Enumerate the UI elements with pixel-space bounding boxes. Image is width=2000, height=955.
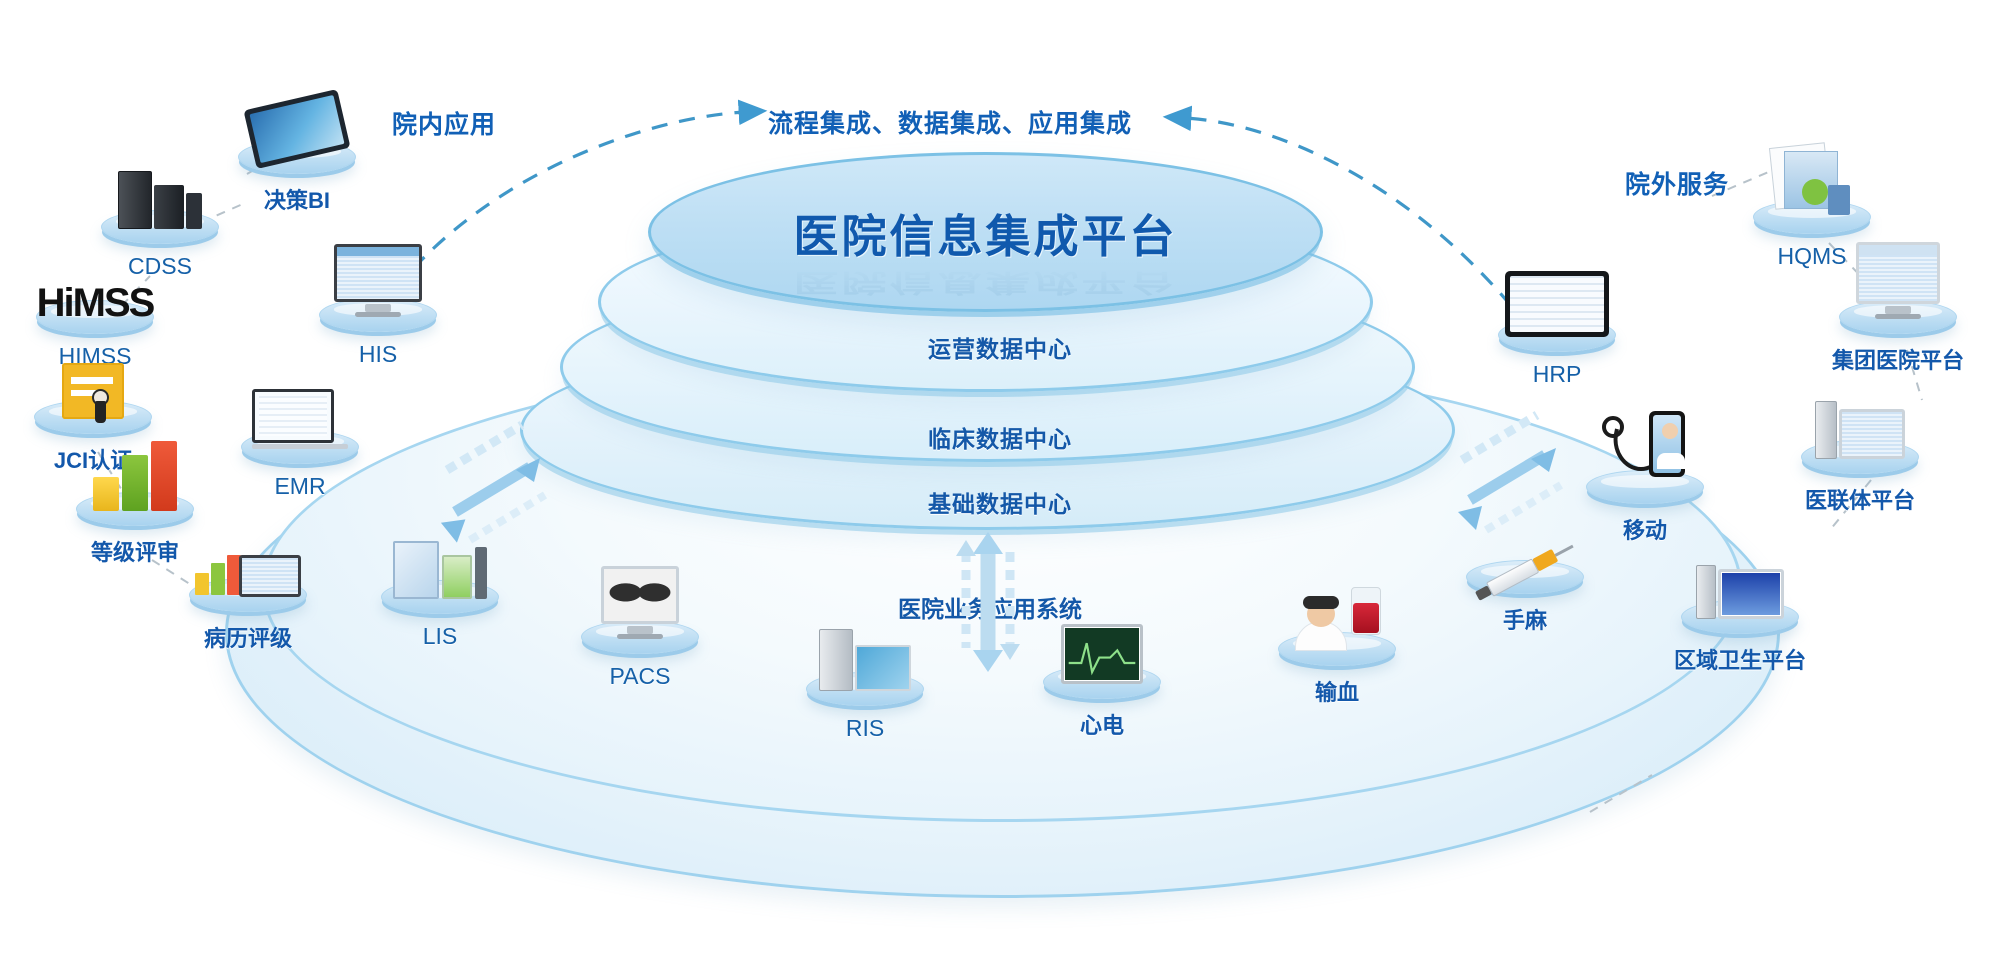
himss-logo-icon: HiMSS — [37, 283, 154, 323]
pedestal — [1466, 560, 1584, 594]
crt-monitor-icon — [1856, 242, 1940, 319]
pedestal — [1801, 440, 1919, 474]
pc-tower-monitor-icon — [1815, 401, 1905, 459]
node-label: 区域卫生平台 — [1655, 643, 1825, 675]
node-label: LIS — [355, 623, 525, 650]
node-label: 集团医院平台 — [1813, 343, 1983, 375]
pedestal — [189, 578, 307, 612]
pedestal — [238, 140, 356, 174]
pedestal — [1043, 665, 1161, 699]
node-medical-alliance-platform[interactable]: 医联体平台 — [1775, 440, 1945, 515]
node-regional-health-platform[interactable]: 区域卫生平台 — [1655, 600, 1825, 675]
blue-screen-pc-icon — [1696, 565, 1784, 619]
widescreen-monitor-icon — [1505, 271, 1609, 337]
pedestal: HiMSS — [36, 300, 154, 334]
pedestal — [101, 210, 219, 244]
node-cdss[interactable]: CDSS — [75, 210, 245, 280]
node-his[interactable]: HIS — [293, 298, 463, 368]
tablet-icon — [249, 99, 345, 159]
desktop-monitor-icon — [334, 244, 422, 317]
node-pacs[interactable]: PACS — [555, 620, 725, 690]
page-title: 医院信息集成平台 — [648, 200, 1323, 265]
pedestal — [1498, 318, 1616, 352]
lab-analyzer-icon — [393, 541, 487, 599]
node-label: 手麻 — [1440, 603, 1610, 635]
syringe-icon — [1471, 563, 1579, 579]
node-label: 心电 — [1017, 708, 1187, 740]
server-rack-icon — [118, 171, 202, 229]
pedestal — [1839, 300, 1957, 334]
label-in-hospital-applications: 院内应用 — [392, 105, 496, 141]
pedestal — [1278, 632, 1396, 666]
ecg-monitor-icon — [1061, 624, 1143, 684]
node-decision-bi[interactable]: 决策BI — [212, 140, 382, 215]
node-label: 移动 — [1560, 513, 1730, 545]
node-transfusion[interactable]: 输血 — [1252, 632, 1422, 707]
bar-blocks-icon — [93, 441, 177, 511]
node-lis[interactable]: LIS — [355, 580, 525, 650]
certificate-seal-icon — [62, 363, 124, 419]
node-mobile[interactable]: 移动 — [1560, 470, 1730, 545]
node-himss[interactable]: HiMSS HIMSS — [10, 300, 180, 370]
node-label: 病历评级 — [163, 621, 333, 653]
label-out-hospital-services: 院外服务 — [1625, 165, 1729, 201]
blood-bag-doctor-icon — [1291, 585, 1383, 651]
pedestal — [34, 400, 152, 434]
node-hrp[interactable]: HRP — [1472, 318, 1642, 388]
pedestal — [319, 298, 437, 332]
documents-folder-icon — [1762, 145, 1862, 219]
label-integration-flow: 流程集成、数据集成、应用集成 — [768, 104, 1132, 140]
node-emr[interactable]: EMR — [215, 430, 385, 500]
node-label: RIS — [780, 715, 950, 742]
laptop-icon — [252, 389, 348, 449]
pedestal — [76, 492, 194, 526]
pedestal — [381, 580, 499, 614]
node-label: EMR — [215, 473, 385, 500]
node-group-hospital-platform[interactable]: 集团医院平台 — [1813, 300, 1983, 375]
node-label: HIS — [293, 341, 463, 368]
node-anesthesia[interactable]: 手麻 — [1440, 560, 1610, 635]
pedestal — [806, 672, 924, 706]
node-ecg[interactable]: 心电 — [1017, 665, 1187, 740]
phone-stethoscope-icon — [1597, 411, 1693, 489]
diagram-canvas: 医院信息集成平台 医院信息集成平台 运营数据中心 临床数据中心 基础数据中心 医… — [0, 0, 2000, 955]
node-emr-rating[interactable]: 病历评级 — [163, 578, 333, 653]
xray-monitor-icon — [601, 566, 679, 639]
node-label: 医联体平台 — [1775, 483, 1945, 515]
pedestal — [241, 430, 359, 464]
node-ris[interactable]: RIS — [780, 672, 950, 742]
node-label: 输血 — [1252, 675, 1422, 707]
business-systems-caption: 医院业务应用系统 — [820, 590, 1160, 624]
node-label: CDSS — [75, 253, 245, 280]
node-label: HRP — [1472, 361, 1642, 388]
pedestal — [1753, 200, 1871, 234]
pedestal — [1681, 600, 1799, 634]
laptop-chart-icon — [195, 555, 301, 597]
tower-pc-icon — [819, 629, 911, 691]
node-label: PACS — [555, 663, 725, 690]
pedestal — [1586, 470, 1704, 504]
pedestal — [581, 620, 699, 654]
